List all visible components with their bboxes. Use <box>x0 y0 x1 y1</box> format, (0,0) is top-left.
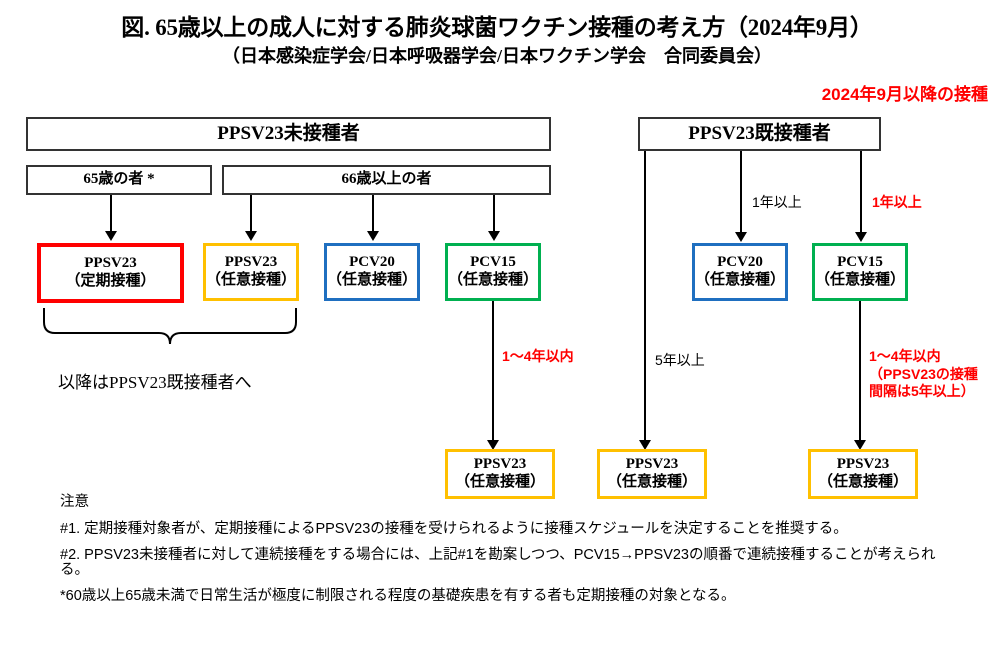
connector-line-direct-to-ppsv23 <box>644 151 646 443</box>
footnote-2: #2. PPSV23未接種者に対して連続接種をする場合には、上記#1を勘案しつつ… <box>60 548 960 577</box>
connector-line-pcv15-to-ppsv23-left <box>492 301 494 443</box>
group-65-box: 65歳の者 * <box>26 165 212 195</box>
footnotes-block: 注意 #1. 定期接種対象者が、定期接種によるPPSV23の接種を受けられるよう… <box>60 495 960 616</box>
connector-arrow-66-to-pcv20 <box>367 231 379 241</box>
vaccine-box-pcv20-right: PCV20 （任意接種） <box>692 243 788 301</box>
group-66-box: 66歳以上の者 <box>222 165 551 195</box>
vaccine-box-ppsv23-followup-left: PPSV23 （任意接種） <box>445 449 555 499</box>
vaccine-name: PPSV23 <box>225 254 278 272</box>
connector-line-66-to-ppsv23opt <box>250 195 252 234</box>
connector-line-66-to-pcv15 <box>493 195 495 234</box>
connector-line-65-to-ppsv23 <box>110 195 112 234</box>
vaccine-box-pcv20-left: PCV20 （任意接種） <box>324 243 420 301</box>
vaccine-type: （任意接種） <box>815 272 905 290</box>
connector-line-to-pcv20-right <box>740 151 742 235</box>
vaccine-name: PCV15 <box>470 254 516 272</box>
connector-line-66-to-pcv20 <box>372 195 374 234</box>
connector-arrow-65-to-ppsv23 <box>105 231 117 241</box>
vaccine-type: （任意接種） <box>818 474 908 492</box>
vaccine-name: PPSV23 <box>626 456 679 474</box>
vaccine-box-ppsv23-optional-left: PPSV23 （任意接種） <box>203 243 299 301</box>
vaccine-box-ppsv23-followup-right: PPSV23 （任意接種） <box>808 449 918 499</box>
since-september-2024-note: 2024年9月以降の接種 <box>822 80 988 105</box>
vaccine-name: PPSV23 <box>837 456 890 474</box>
vaccine-name: PPSV23 <box>474 456 527 474</box>
vaccine-type: （任意接種） <box>448 272 538 290</box>
interval-label-pcv15-to-ppsv23-right: 1〜4年以内 （PPSV23の接種 間隔は5年以上） <box>869 348 978 401</box>
connector-line-pcv15-to-ppsv23-right <box>859 301 861 443</box>
vaccine-name: PCV20 <box>717 254 763 272</box>
brace-ppsv23-group <box>42 306 302 362</box>
vaccine-box-pcv15-right: PCV15 （任意接種） <box>812 243 908 301</box>
vaccine-box-ppsv23-followup-direct: PPSV23 （任意接種） <box>597 449 707 499</box>
interval-label-direct-5years: 5年以上 <box>655 352 705 370</box>
vaccine-type: （任意接種） <box>607 474 697 492</box>
connector-line-to-pcv15-right <box>860 151 862 235</box>
vaccine-box-ppsv23-routine: PPSV23 （定期接種） <box>37 243 184 303</box>
brace-label-to-vaccinated: 以降はPPSV23既接種者へ <box>58 368 252 393</box>
vaccine-type: （任意接種） <box>327 272 417 290</box>
vaccine-type: （任意接種） <box>206 272 296 290</box>
figure-subtitle: （日本感染症学会/日本呼吸器学会/日本ワクチン学会 合同委員会） <box>0 42 994 68</box>
interval-label-to-pcv20-right: 1年以上 <box>752 194 802 212</box>
vaccine-type: （任意接種） <box>455 474 545 492</box>
footnotes-heading: 注意 <box>60 495 960 510</box>
vaccine-name: PPSV23 <box>84 255 137 273</box>
footnote-1: #1. 定期接種対象者が、定期接種によるPPSV23の接種を受けられるように接種… <box>60 522 960 537</box>
interval-label-pcv15-to-ppsv23-left: 1〜4年以内 <box>502 348 574 366</box>
vaccine-type: （任意接種） <box>695 272 785 290</box>
footnote-asterisk: *60歳以上65歳未満で日常生活が極度に制限される程度の基礎疾患を有する者も定期… <box>60 589 960 604</box>
vaccine-box-pcv15-left: PCV15 （任意接種） <box>445 243 541 301</box>
connector-arrow-to-pcv15-right <box>855 232 867 242</box>
figure-canvas: 図. 65歳以上の成人に対する肺炎球菌ワクチン接種の考え方（2024年9月） （… <box>0 0 994 654</box>
connector-arrow-to-pcv20-right <box>735 232 747 242</box>
vaccine-type: （定期接種） <box>65 273 155 291</box>
left-branch-header-label: PPSV23未接種者 <box>217 123 360 145</box>
left-branch-header-box: PPSV23未接種者 <box>26 117 551 151</box>
right-branch-header-box: PPSV23既接種者 <box>638 117 881 151</box>
figure-title: 図. 65歳以上の成人に対する肺炎球菌ワクチン接種の考え方（2024年9月） <box>0 8 994 42</box>
group-66-label: 66歳以上の者 <box>341 171 431 189</box>
connector-arrow-66-to-ppsv23opt <box>245 231 257 241</box>
interval-label-to-pcv15-right: 1年以上 <box>872 194 922 212</box>
vaccine-name: PCV15 <box>837 254 883 272</box>
right-branch-header-label: PPSV23既接種者 <box>688 123 831 145</box>
vaccine-name: PCV20 <box>349 254 395 272</box>
group-65-label: 65歳の者 * <box>83 171 154 189</box>
connector-arrow-66-to-pcv15 <box>488 231 500 241</box>
